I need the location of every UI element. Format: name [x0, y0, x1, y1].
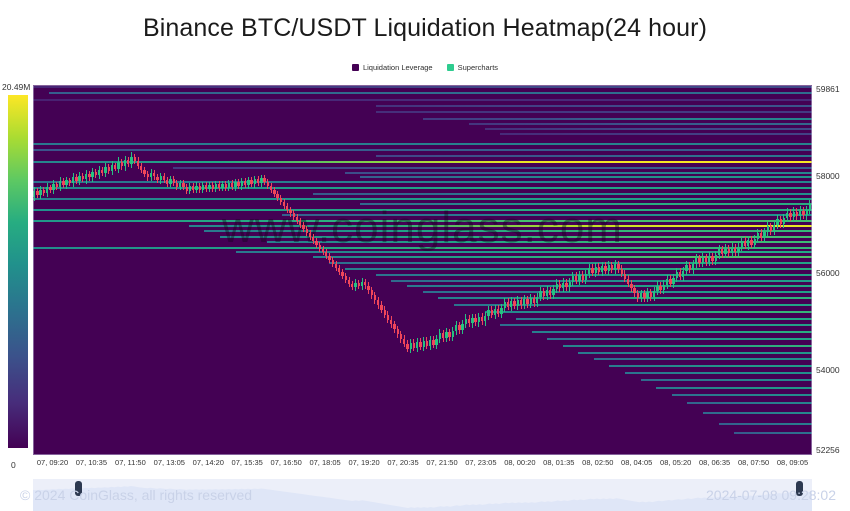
price-candle-wick: [670, 275, 671, 287]
price-candle-wick: [300, 218, 301, 228]
price-candle-wick: [524, 295, 525, 309]
legend-swatch-liquidation-leverage: [352, 64, 359, 71]
price-candle-wick: [374, 292, 375, 304]
price-candle-wick: [501, 304, 502, 318]
price-candle-wick: [293, 210, 294, 220]
x-axis-tick-label: 07, 21:50: [426, 458, 457, 467]
y-axis-tick-label: 54000: [816, 365, 840, 375]
price-candle-wick: [410, 339, 411, 353]
price-candle-wick: [605, 262, 606, 274]
price-candle-wick: [254, 176, 255, 188]
price-candle-wick: [60, 177, 61, 191]
price-candle-wick: [696, 254, 697, 268]
price-candle-wick: [764, 228, 765, 242]
price-candle-wick: [267, 179, 268, 189]
x-axis-tick-label: 07, 15:35: [232, 458, 263, 467]
price-candle-wick: [618, 261, 619, 273]
price-candle-wick: [582, 271, 583, 283]
price-candle-wick: [608, 261, 609, 275]
price-candle-wick: [316, 238, 317, 248]
price-candle-wick: [189, 183, 190, 194]
price-candle-wick: [238, 179, 239, 189]
price-candle-wick: [378, 297, 379, 309]
price-candle-wick: [465, 314, 466, 328]
price-candle-wick: [728, 245, 729, 257]
price-candle-wick: [631, 280, 632, 292]
price-candle-wick: [689, 262, 690, 274]
price-candle-wick: [186, 184, 187, 194]
price-candle-wick: [722, 246, 723, 258]
colorbar-min-label: 0: [11, 460, 16, 470]
price-candle-wick: [170, 176, 171, 187]
price-candle-wick: [667, 275, 668, 289]
y-axis-tick-label: 52256: [816, 445, 840, 455]
price-candle-wick: [368, 282, 369, 294]
price-candle-wick: [241, 178, 242, 190]
price-candle-wick: [482, 313, 483, 325]
price-candle-wick: [637, 290, 638, 302]
price-candle-wick: [43, 187, 44, 196]
price-candle-wick: [323, 246, 324, 256]
price-candle-wick: [345, 273, 346, 283]
x-axis-tick-label: 08, 07:50: [738, 458, 769, 467]
price-candle-wick: [355, 279, 356, 291]
price-candle-wick: [738, 242, 739, 256]
price-candle-wick: [144, 167, 145, 177]
chart-legend: Liquidation Leverage Supercharts: [0, 63, 850, 72]
price-candle-wick: [352, 281, 353, 291]
price-candle-wick: [274, 187, 275, 197]
price-candle-wick: [660, 282, 661, 294]
price-candle-wick: [514, 298, 515, 310]
price-candle-wick: [706, 254, 707, 266]
price-candle-wick: [641, 290, 642, 302]
price-candle-wick: [654, 287, 655, 301]
price-candle-wick: [115, 163, 116, 172]
price-candle-wick: [151, 169, 152, 181]
price-candle-wick: [76, 174, 77, 184]
price-candle-wick: [423, 337, 424, 351]
x-axis-tick-label: 07, 23:05: [465, 458, 496, 467]
price-candle-wick: [715, 251, 716, 265]
price-candle-wick: [485, 312, 486, 326]
price-candle-wick: [157, 174, 158, 184]
price-candle-wick: [783, 214, 784, 228]
price-candle-wick: [222, 181, 223, 192]
price-candle-wick: [413, 339, 414, 351]
price-candle-wick: [92, 168, 93, 182]
price-candle-wick: [634, 285, 635, 297]
price-candle-wick: [579, 271, 580, 285]
price-candle-wick: [449, 329, 450, 341]
price-candle-wick: [452, 327, 453, 341]
price-candle-wick: [235, 179, 236, 191]
price-candle-wick: [547, 286, 548, 300]
price-candle-wick: [248, 177, 249, 189]
price-candle-wick: [251, 177, 252, 187]
price-candle-wick: [543, 288, 544, 300]
price-candle-wick: [404, 335, 405, 347]
price-candle-wick: [569, 278, 570, 292]
legend-item-supercharts[interactable]: Supercharts: [447, 63, 498, 72]
x-axis-tick-label: 08, 00:20: [504, 458, 535, 467]
price-candle-wick: [336, 261, 337, 271]
x-axis-tick-label: 07, 18:05: [309, 458, 340, 467]
price-candle-wick: [767, 222, 768, 236]
price-candle-wick: [228, 180, 229, 191]
price-candle-wick: [384, 306, 385, 318]
price-candle-wick: [147, 171, 148, 181]
price-candle-wick: [258, 176, 259, 186]
price-candle-wick: [550, 287, 551, 299]
price-candle-wick: [521, 297, 522, 309]
price-candle-wick: [215, 181, 216, 192]
x-axis-tick-label: 08, 09:05: [777, 458, 808, 467]
price-candle-wick: [420, 338, 421, 350]
legend-label-supercharts: Supercharts: [458, 63, 498, 72]
price-candle-wick: [472, 314, 473, 328]
price-candle-wick: [530, 294, 531, 308]
price-candle-wick: [537, 293, 538, 307]
price-candle-wick: [280, 195, 281, 205]
price-candle-wick: [79, 172, 80, 185]
price-candle-wick: [589, 264, 590, 278]
x-axis-tick-label: 07, 10:35: [76, 458, 107, 467]
price-candle-wick: [751, 236, 752, 248]
price-candle-wick: [108, 164, 109, 174]
price-candle-wick: [735, 244, 736, 256]
price-candle-wick: [125, 156, 126, 171]
price-candle-wick: [725, 244, 726, 258]
x-axis-tick-label: 07, 13:05: [154, 458, 185, 467]
price-candle-wick: [66, 177, 67, 189]
x-axis-tick-label: 08, 05:20: [660, 458, 691, 467]
price-candle-wick: [339, 265, 340, 275]
price-candle-wick: [673, 274, 674, 288]
price-candle-wick: [511, 297, 512, 311]
legend-swatch-supercharts: [447, 64, 454, 71]
price-candle-wick: [245, 178, 246, 188]
price-candle-wick: [443, 330, 444, 342]
price-candle-wick: [790, 209, 791, 221]
price-candle-wick: [47, 183, 48, 197]
price-candle-wick: [73, 173, 74, 187]
price-candle-wick: [699, 255, 700, 267]
price-candle-wick: [202, 182, 203, 193]
price-candle-wick: [196, 182, 197, 193]
price-candle-wick: [105, 163, 106, 177]
price-candle-wick: [475, 314, 476, 326]
price-candle-wick: [534, 295, 535, 307]
price-candle-wick: [712, 253, 713, 265]
price-candle-wick: [37, 188, 38, 198]
price-candle-wick: [563, 278, 564, 292]
price-candle-wick: [611, 262, 612, 274]
price-candle-wick: [297, 214, 298, 224]
price-candle-wick: [491, 306, 492, 318]
price-candle-wick: [504, 298, 505, 312]
copyright-text: © 2024 CoinGlass, all rights reserved: [20, 487, 252, 503]
price-candle-wick: [387, 311, 388, 323]
price-candle-wick: [624, 270, 625, 282]
x-axis-tick-label: 07, 19:20: [348, 458, 379, 467]
price-candle-wick: [358, 280, 359, 290]
price-candle-wick: [488, 306, 489, 320]
heatmap-plot-area[interactable]: www.coinglass.com: [33, 85, 812, 455]
price-candle-wick: [99, 166, 100, 179]
price-candle-wick: [131, 152, 132, 168]
legend-item-liquidation-leverage[interactable]: Liquidation Leverage: [352, 63, 433, 72]
price-candle-wick: [770, 223, 771, 235]
x-axis-tick-label: 07, 09:20: [37, 458, 68, 467]
price-candle-wick: [212, 182, 213, 192]
price-candle-wick: [141, 163, 142, 173]
price-candle-wick: [498, 305, 499, 317]
price-candle-wick: [644, 290, 645, 302]
price-candle-wick: [495, 305, 496, 319]
price-candle-wick: [319, 242, 320, 252]
price-candle-wick: [556, 279, 557, 293]
price-candle-wick: [118, 157, 119, 173]
price-candle-wick: [310, 230, 311, 240]
price-candle-wick: [676, 268, 677, 282]
x-axis-tick-label: 08, 01:35: [543, 458, 574, 467]
colorbar-max-label: 20.49M: [2, 82, 30, 92]
price-candle-wick: [82, 173, 83, 182]
price-candle-wick: [391, 316, 392, 328]
price-candle-wick: [680, 268, 681, 280]
price-candle-wick: [657, 281, 658, 295]
price-candle-wick: [199, 183, 200, 193]
price-candle-wick: [462, 320, 463, 334]
price-candle-wick: [349, 277, 350, 287]
price-candle-wick: [232, 180, 233, 190]
price-candle-wick: [602, 262, 603, 276]
price-candle-wick: [540, 287, 541, 301]
price-candle-wick: [313, 234, 314, 244]
price-candle-wick: [332, 257, 333, 267]
price-candle-wick: [553, 285, 554, 299]
x-axis-tick-label: 08, 06:35: [699, 458, 730, 467]
price-candle-wick: [102, 167, 103, 176]
price-candle-wick: [34, 187, 35, 201]
price-candle-wick: [702, 253, 703, 267]
price-candle-wick: [647, 288, 648, 302]
price-candle-wick: [757, 229, 758, 243]
price-candle-wick: [683, 267, 684, 281]
price-candle-wick: [400, 331, 401, 343]
price-candle-wick: [264, 175, 265, 185]
x-axis-tick-label: 07, 11:50: [115, 458, 146, 467]
price-candle-wick: [803, 207, 804, 219]
price-candle-wick: [426, 337, 427, 349]
price-candle-wick: [650, 289, 651, 301]
price-candle-wick: [112, 161, 113, 175]
price-candle-wick: [209, 182, 210, 193]
price-candle-wick: [290, 207, 291, 217]
price-candle-wick: [796, 208, 797, 220]
price-candle-wick: [621, 265, 622, 277]
price-candle-wick: [160, 173, 161, 184]
x-axis-tick-label: 08, 02:50: [582, 458, 613, 467]
price-candle-wick: [225, 181, 226, 191]
price-candle-wick: [50, 185, 51, 193]
price-candle-wick: [417, 338, 418, 352]
price-candle-wick: [719, 245, 720, 259]
price-candle-wick: [456, 321, 457, 335]
price-candle-wick: [809, 200, 810, 214]
price-candle-wick: [53, 180, 54, 194]
price-candle-wick: [576, 272, 577, 284]
price-candle-wick: [595, 263, 596, 277]
legend-label-liquidation-leverage: Liquidation Leverage: [363, 63, 433, 72]
price-candle-wick: [459, 322, 460, 334]
price-candle-wick: [394, 321, 395, 333]
price-candle-wick: [469, 315, 470, 327]
x-axis-tick-label: 08, 04:05: [621, 458, 652, 467]
price-candle-wick: [741, 237, 742, 251]
price-candle-wick: [793, 207, 794, 221]
price-candle-wick: [430, 336, 431, 350]
price-candle-wick: [709, 252, 710, 266]
price-candle-wick: [287, 203, 288, 213]
price-candle-wick: [446, 328, 447, 342]
price-candle-wick: [89, 171, 90, 181]
price-candle-wick: [95, 169, 96, 178]
price-candle-wick: [121, 159, 122, 170]
price-candle-wick: [436, 335, 437, 349]
price-candle-wick: [362, 278, 363, 290]
x-axis-labels: 07, 09:2007, 10:3507, 11:5007, 13:0507, …: [33, 458, 812, 470]
price-candle-wick: [63, 178, 64, 188]
price-candle-wick: [572, 272, 573, 286]
price-candle-wick: [342, 269, 343, 279]
price-candle-wick: [745, 237, 746, 249]
price-candle-wick: [517, 296, 518, 310]
price-candle-wick: [69, 178, 70, 186]
price-candle-wick: [663, 280, 664, 294]
price-candle-wick: [326, 249, 327, 259]
price-candle-wick: [559, 280, 560, 292]
price-candle-wick: [693, 260, 694, 274]
price-candle-wick: [478, 313, 479, 327]
price-candle-wick: [180, 180, 181, 191]
price-candle-wick: [176, 180, 177, 190]
price-candle-wick: [508, 298, 509, 310]
price-candle-wick: [800, 206, 801, 220]
price-candle-wick: [134, 154, 135, 164]
price-candle-wick: [306, 226, 307, 236]
price-candle-wick: [407, 340, 408, 352]
price-candle-wick: [397, 326, 398, 338]
price-candle-wick: [271, 183, 272, 193]
price-candle-wick: [598, 263, 599, 275]
liquidation-heatmap-page: Binance BTC/USDT Liquidation Heatmap(24 …: [0, 0, 850, 511]
price-candle-wick: [761, 229, 762, 241]
price-candle-wick: [686, 261, 687, 275]
price-candle-wick: [40, 186, 41, 199]
price-candlestick-layer: [33, 85, 812, 455]
price-candle-wick: [787, 208, 788, 222]
price-candle-wick: [167, 177, 168, 187]
price-candle-wick: [585, 270, 586, 284]
price-candle-wick: [774, 221, 775, 235]
price-candle-wick: [128, 157, 129, 167]
price-candle-wick: [371, 287, 372, 299]
price-candle-wick: [277, 191, 278, 201]
price-candle-wick: [173, 176, 174, 186]
price-candle-wick: [615, 260, 616, 274]
price-candle-wick: [381, 301, 382, 313]
price-candle-wick: [592, 264, 593, 276]
price-candle-wick: [183, 180, 184, 190]
price-candle-wick: [748, 236, 749, 250]
y-axis-tick-label: 56000: [816, 268, 840, 278]
price-candle-wick: [527, 296, 528, 308]
x-axis-tick-label: 07, 20:35: [387, 458, 418, 467]
price-candle-wick: [86, 170, 87, 184]
price-candle-wick: [193, 183, 194, 193]
price-candle-wick: [566, 279, 567, 291]
page-title: Binance BTC/USDT Liquidation Heatmap(24 …: [0, 14, 850, 43]
price-candle-wick: [628, 275, 629, 287]
price-candle-wick: [777, 215, 778, 229]
y-axis-tick-label: 58000: [816, 171, 840, 181]
price-candle-wick: [433, 336, 434, 348]
y-axis-tick-label: 59861: [816, 84, 840, 94]
price-candle-wick: [206, 182, 207, 192]
price-candle-wick: [219, 181, 220, 191]
price-candle-wick: [780, 216, 781, 228]
colorbar: [8, 95, 28, 448]
price-candle-wick: [303, 222, 304, 232]
price-candle-wick: [365, 279, 366, 289]
price-candle-wick: [261, 175, 262, 187]
timestamp-text: 2024-07-08 09:28:02: [706, 487, 836, 503]
price-candle-wick: [329, 253, 330, 263]
price-candle-wick: [154, 170, 155, 180]
price-candle-wick: [806, 206, 807, 220]
x-axis-tick-label: 07, 14:20: [193, 458, 224, 467]
price-candle-wick: [439, 329, 440, 343]
x-axis-tick-label: 07, 16:50: [271, 458, 302, 467]
price-candle-wick: [56, 182, 57, 190]
colorbar-gradient: [8, 95, 28, 448]
price-candle-wick: [284, 199, 285, 209]
price-candle-wick: [138, 157, 139, 169]
price-candle-wick: [164, 173, 165, 183]
price-candle-wick: [732, 243, 733, 257]
price-candle-wick: [754, 235, 755, 249]
